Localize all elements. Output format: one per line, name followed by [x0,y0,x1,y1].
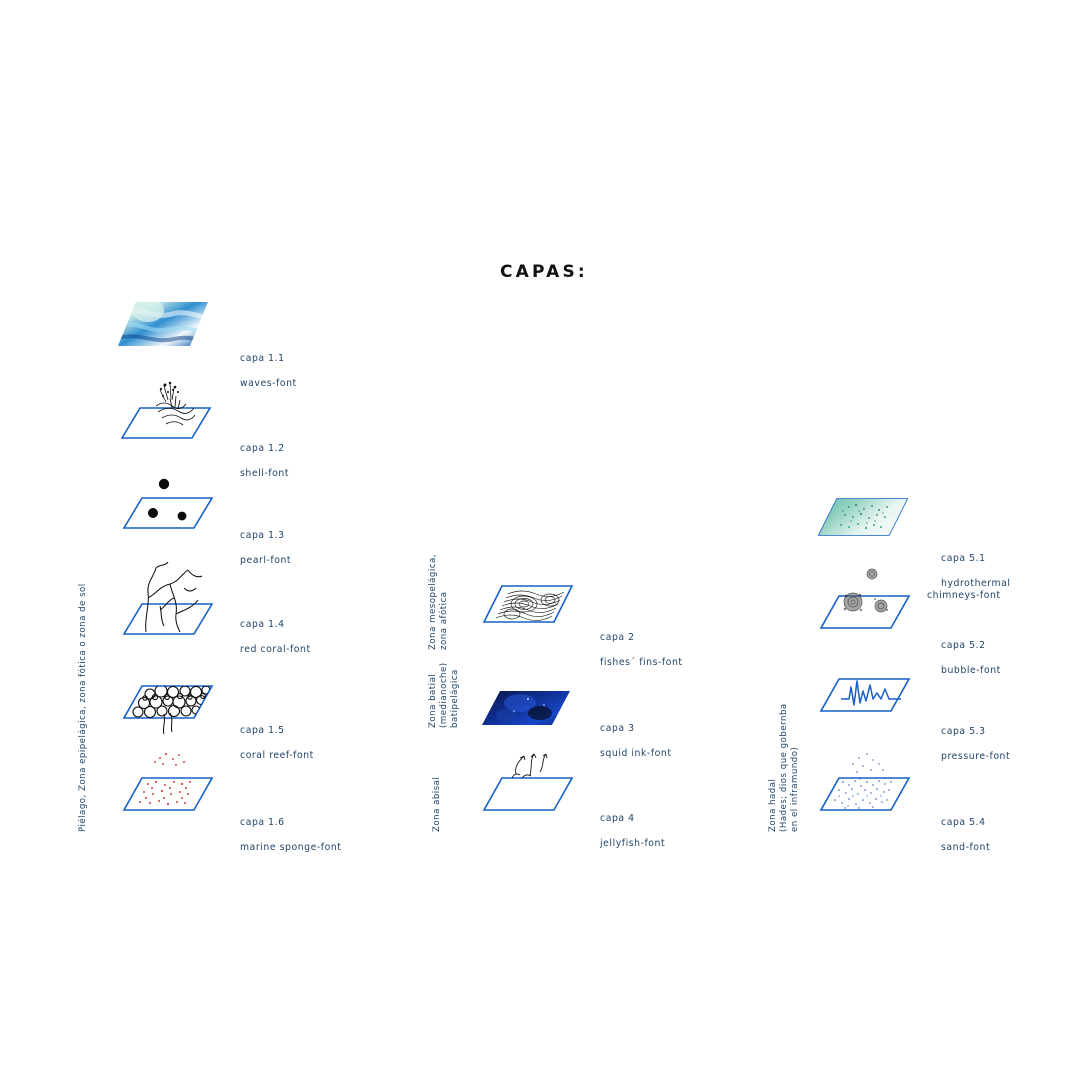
capa-1-4-number: capa 1.4 [240,619,285,630]
layer-tile-capa-4[interactable] [478,748,570,794]
caption-capa-1-6: capa 1.6 marine sponge-font [226,805,341,866]
layer-tile-capa-1-5[interactable] [118,680,210,726]
pearl-icon [118,470,228,536]
caption-capa-5-2: capa 5.2 bubble-font [927,628,1001,689]
capa-1-5-name: coral reef-font [240,750,314,761]
coral-reef-icon [118,680,233,738]
capa-2-number: capa 2 [600,632,635,643]
zone-label-bathyal: Zona batial (medianoche) batipelágica [428,662,461,728]
caption-capa-1-4: capa 1.4 red coral-font [226,607,311,668]
squid-ink-icon [478,685,588,737]
caption-capa-5-1: capa 5.1 hydrothermal chimneys-font [927,541,1011,614]
fishes-fins-icon [478,580,588,636]
zone-label-hadal: Zona hadal (Hades; dios que gobernba en … [768,703,801,832]
capa-1-5-number: capa 1.5 [240,725,285,736]
layer-tile-capa-5-3[interactable] [815,665,907,711]
page-title: CAPAS: [500,262,588,282]
capa-5-3-number: capa 5.3 [941,726,986,737]
capa-1-6-name: marine sponge-font [240,842,341,853]
zone-label-mesopelagic: Zona mesopelágica, zona afótica [428,554,450,650]
zone-label-abyssal: Zona abisal [432,777,443,832]
capa-5-2-number: capa 5.2 [941,640,986,651]
capa-4-number: capa 4 [600,813,635,824]
capa-1-1-name: waves-font [240,378,297,389]
capa-5-4-name: sand-font [941,842,990,853]
layer-tile-capa-1-6[interactable] [118,748,210,794]
capa-4-name: jellyfish-font [600,838,665,849]
caption-capa-1-5: capa 1.5 coral reef-font [226,713,314,774]
caption-capa-3: capa 3 squid ink-font [586,711,672,772]
shell-icon [118,380,228,442]
caption-capa-1-1: capa 1.1 waves-font [226,341,297,402]
caption-capa-5-4: capa 5.4 sand-font [927,805,990,866]
caption-capa-1-3: capa 1.3 pearl-font [226,518,291,579]
capa-1-4-name: red coral-font [240,644,311,655]
layer-tile-capa-1-4[interactable] [118,558,210,604]
capa-2-name: fishes´ fins-font [600,657,683,668]
capa-5-3-name: pressure-font [941,751,1010,762]
layer-tile-capa-3[interactable] [478,685,570,731]
layer-tile-capa-1-1[interactable] [118,300,210,346]
capa-5-1-number: capa 5.1 [941,553,986,564]
layer-tile-capa-1-3[interactable] [118,470,210,516]
capa-5-1-name: hydrothermal chimneys-font [927,578,1011,601]
capa-5-4-number: capa 5.4 [941,817,986,828]
caption-capa-1-2: capa 1.2 shell-font [226,431,289,492]
capa-1-3-name: pearl-font [240,555,291,566]
layer-tile-capa-2[interactable] [478,580,570,626]
hydrothermal-chimneys-icon [815,495,925,547]
caption-capa-2: capa 2 fishes´ fins-font [586,620,683,681]
capa-1-1-number: capa 1.1 [240,353,285,364]
pressure-icon [815,665,930,723]
red-coral-icon [118,558,233,640]
capa-5-2-name: bubble-font [941,665,1001,676]
marine-sponge-icon [118,748,233,816]
capa-1-3-number: capa 1.3 [240,530,285,541]
layer-tile-capa-5-2[interactable] [815,560,907,606]
waveform-path [841,681,901,705]
zone-label-epipelagic: Piélago, Zona epipelágica, zona fótica o… [78,583,89,832]
layer-tile-capa-5-1[interactable] [815,495,907,541]
poster-canvas: CAPAS: Piélago, Zona epipelágica, zona f… [0,0,1080,1080]
capa-3-number: capa 3 [600,723,635,734]
caption-capa-4: capa 4 jellyfish-font [586,801,665,862]
caption-capa-5-3: capa 5.3 pressure-font [927,714,1010,775]
capa-1-2-name: shell-font [240,468,289,479]
capa-1-6-number: capa 1.6 [240,817,285,828]
waves-icon [118,300,228,360]
capa-1-2-number: capa 1.2 [240,443,285,454]
jellyfish-icon [478,748,593,816]
sand-icon [815,748,930,816]
bubble-icon [815,560,930,634]
capa-3-name: squid ink-font [600,748,672,759]
layer-tile-capa-5-4[interactable] [815,748,907,794]
layer-tile-capa-1-2[interactable] [118,380,210,426]
